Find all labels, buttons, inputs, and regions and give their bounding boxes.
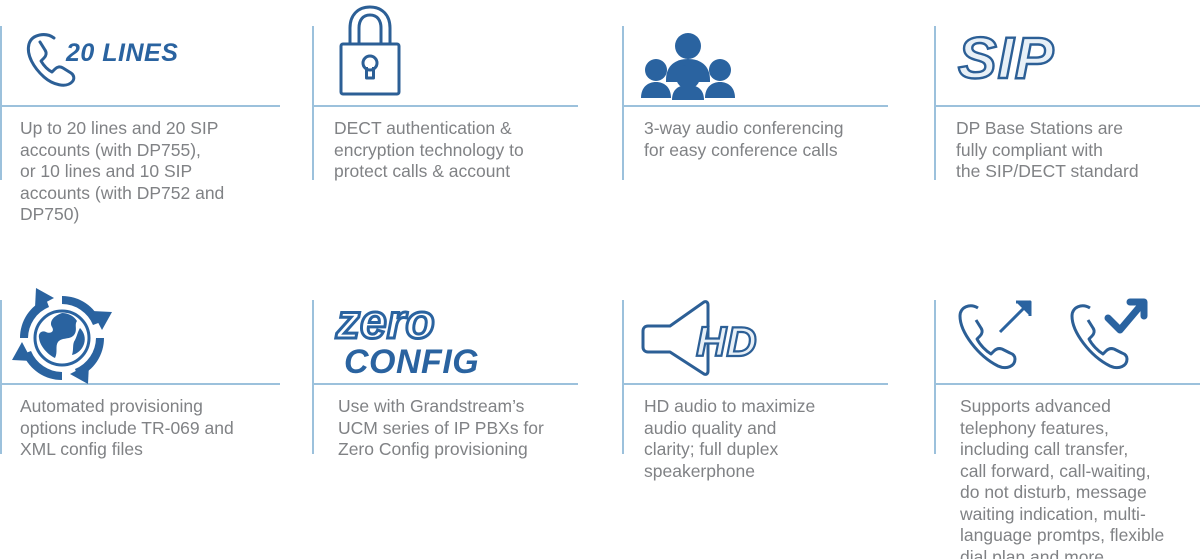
panel-vertical-rule <box>0 300 2 454</box>
panel-horizontal-rule <box>0 105 280 107</box>
panel-vertical-rule <box>312 300 314 454</box>
feature-panel-sip: SIP DP Base Stations are fully compliant… <box>934 26 1200 246</box>
speaker-hd-icon: HD <box>640 294 766 380</box>
panel-horizontal-rule <box>622 383 888 385</box>
panel-vertical-rule <box>0 26 2 180</box>
panel-vertical-rule <box>934 300 936 454</box>
feature-panel-conferencing: 3-way audio conferencing for easy confer… <box>622 26 902 246</box>
feature-description: 3-way audio conferencing for easy confer… <box>644 118 902 161</box>
sip-logo-text: SIP <box>958 26 1055 91</box>
three-people-conference-icon <box>636 32 741 100</box>
feature-description: Up to 20 lines and 20 SIP accounts (with… <box>20 118 270 226</box>
feature-panel-hdaudio: HD HD audio to maximize audio quality an… <box>622 300 902 540</box>
feature-description: DP Base Stations are fully compliant wit… <box>956 118 1200 183</box>
padlock-icon <box>330 2 410 100</box>
sip-logo-icon: SIP <box>954 24 1094 94</box>
panel-vertical-rule <box>622 300 624 454</box>
hd-logo-text: HD <box>696 318 757 365</box>
panel-vertical-rule <box>934 26 936 180</box>
feature-description: DECT authentication & encryption technol… <box>334 118 584 183</box>
feature-panel-zeroconfig: zero CONFIG Use with Grandstream’s UCM s… <box>312 300 592 540</box>
feature-panel-security: DECT authentication & encryption technol… <box>312 26 592 246</box>
panel-horizontal-rule <box>622 105 888 107</box>
call-transfer-forward-icons <box>956 296 1156 380</box>
feature-description: HD audio to maximize audio quality and c… <box>644 396 900 482</box>
feature-panel-lines: 20 LINES Up to 20 lines and 20 SIP accou… <box>0 26 280 246</box>
svg-text:20 LINES: 20 LINES <box>65 39 178 67</box>
feature-description: Automated provisioning options include T… <box>20 396 270 461</box>
feature-panel-provisioning: Automated provisioning options include T… <box>0 300 280 540</box>
feature-description: Use with Grandstream’s UCM series of IP … <box>338 396 594 461</box>
panel-horizontal-rule <box>934 105 1200 107</box>
call-forward-icon <box>1072 302 1144 368</box>
globe-refresh-arrows-icon <box>8 284 116 388</box>
zero-logo-text: zero <box>335 296 435 349</box>
feature-panel-telephony: Supports advanced telephony features, in… <box>934 300 1200 559</box>
config-logo-text: CONFIG <box>344 343 479 381</box>
panel-horizontal-rule <box>312 105 578 107</box>
zero-config-logo-icon: zero CONFIG <box>334 296 474 382</box>
panel-horizontal-rule <box>934 383 1200 385</box>
panel-horizontal-rule <box>312 383 578 385</box>
feature-description: Supports advanced telephony features, in… <box>960 396 1200 559</box>
panel-vertical-rule <box>622 26 624 180</box>
phone-handset-20-lines-icon: 20 LINES <box>18 28 153 90</box>
panel-vertical-rule <box>312 26 314 180</box>
feature-grid: 20 LINES Up to 20 lines and 20 SIP accou… <box>0 0 1200 559</box>
outgoing-call-icon <box>960 302 1030 368</box>
